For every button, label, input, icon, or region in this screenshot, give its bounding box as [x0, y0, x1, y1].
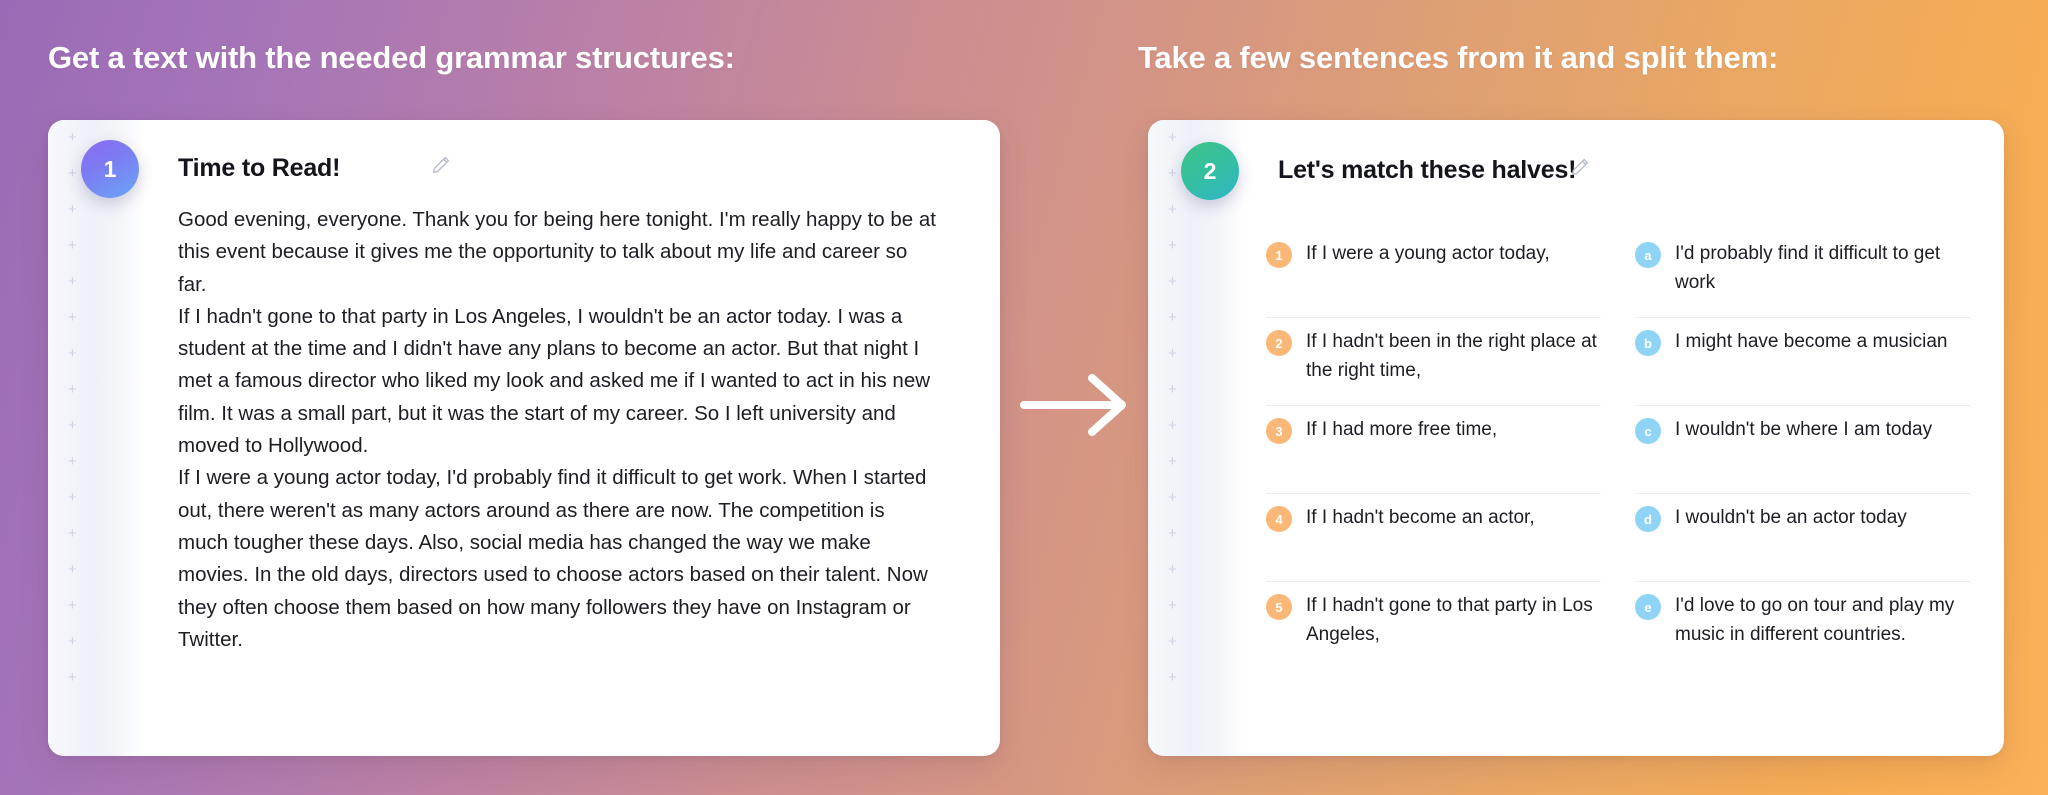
- spine-mark: +: [1168, 310, 1188, 325]
- spine-marks-right: + + + + + + + + + + + + + + + +: [1168, 130, 1188, 756]
- card-spine-right: + + + + + + + + + + + + + + + +: [1148, 120, 1244, 756]
- match-text: If I had more free time,: [1306, 415, 1497, 444]
- matching-columns: 1 If I were a young actor today, 2 If I …: [1266, 230, 1970, 670]
- match-label: 5: [1266, 594, 1292, 620]
- match-label: e: [1635, 594, 1661, 620]
- matching-left-column: 1 If I were a young actor today, 2 If I …: [1266, 230, 1601, 670]
- spine-mark: +: [68, 310, 88, 325]
- match-item[interactable]: a I'd probably find it difficult to get …: [1635, 230, 1970, 318]
- spine-mark: +: [68, 238, 88, 253]
- match-label: b: [1635, 330, 1661, 356]
- match-item[interactable]: c I wouldn't be where I am today: [1635, 406, 1970, 494]
- spine-mark: +: [1168, 562, 1188, 577]
- spine-mark: +: [68, 670, 88, 685]
- spine-mark: +: [68, 598, 88, 613]
- match-label: 1: [1266, 242, 1292, 268]
- spine-mark: +: [68, 382, 88, 397]
- match-label: 2: [1266, 330, 1292, 356]
- spine-mark: +: [68, 490, 88, 505]
- match-text: I might have become a musician: [1675, 327, 1947, 356]
- spine-mark: +: [68, 634, 88, 649]
- match-item[interactable]: d I wouldn't be an actor today: [1635, 494, 1970, 582]
- match-text: I'd love to go on tour and play my music…: [1675, 591, 1966, 649]
- spine-mark: +: [1168, 670, 1188, 685]
- spine-mark: +: [1168, 490, 1188, 505]
- matching-card: + + + + + + + + + + + + + + + + 2 Let's …: [1148, 120, 2004, 756]
- spine-mark: +: [1168, 130, 1188, 145]
- match-item[interactable]: 2 If I hadn't been in the right place at…: [1266, 318, 1601, 406]
- matching-right-column: a I'd probably find it difficult to get …: [1635, 230, 1970, 670]
- match-item[interactable]: 4 If I hadn't become an actor,: [1266, 494, 1601, 582]
- spine-mark: +: [68, 130, 88, 145]
- match-text: If I were a young actor today,: [1306, 239, 1550, 268]
- spine-mark: +: [1168, 634, 1188, 649]
- spine-mark: +: [68, 346, 88, 361]
- match-label: d: [1635, 506, 1661, 532]
- match-label: c: [1635, 418, 1661, 444]
- match-text: If I hadn't been in the right place at t…: [1306, 327, 1597, 385]
- spine-mark: +: [1168, 274, 1188, 289]
- spine-mark: +: [68, 562, 88, 577]
- spine-mark: +: [1168, 346, 1188, 361]
- matching-card-title: Let's match these halves!: [1278, 156, 1576, 185]
- match-text: I'd probably find it difficult to get wo…: [1675, 239, 1966, 297]
- match-item[interactable]: 1 If I were a young actor today,: [1266, 230, 1601, 318]
- reading-text: Good evening, everyone. Thank you for be…: [178, 204, 940, 656]
- match-text: I wouldn't be an actor today: [1675, 503, 1907, 532]
- reading-card: + + + + + + + + + + + + + + + +: [48, 120, 1000, 756]
- spine-mark: +: [1168, 238, 1188, 253]
- match-text: If I hadn't gone to that party in Los An…: [1306, 591, 1597, 649]
- match-item[interactable]: e I'd love to go on tour and play my mus…: [1635, 582, 1970, 670]
- match-text: If I hadn't become an actor,: [1306, 503, 1535, 532]
- left-panel: Get a text with the needed grammar struc…: [0, 0, 1000, 795]
- spine-marks-left: + + + + + + + + + + + + + + + +: [68, 130, 88, 756]
- spine-mark: +: [1168, 454, 1188, 469]
- step-badge-1: 1: [81, 140, 139, 198]
- spine-mark: +: [1168, 382, 1188, 397]
- spine-mark: +: [1168, 418, 1188, 433]
- pencil-icon[interactable]: [431, 155, 451, 175]
- reading-card-title: Time to Read!: [178, 154, 340, 183]
- right-section-heading: Take a few sentences from it and split t…: [1138, 40, 1778, 76]
- reading-paragraph: Good evening, everyone. Thank you for be…: [178, 204, 940, 301]
- spine-mark: +: [68, 526, 88, 541]
- spine-mark: +: [68, 418, 88, 433]
- card-spine-left: + + + + + + + + + + + + + + + +: [48, 120, 144, 756]
- match-label: 4: [1266, 506, 1292, 532]
- step-badge-2: 2: [1181, 142, 1239, 200]
- match-text: I wouldn't be where I am today: [1675, 415, 1932, 444]
- spine-mark: +: [68, 274, 88, 289]
- left-section-heading: Get a text with the needed grammar struc…: [48, 40, 735, 76]
- match-item[interactable]: b I might have become a musician: [1635, 318, 1970, 406]
- match-label: a: [1635, 242, 1661, 268]
- spine-mark: +: [68, 202, 88, 217]
- match-label: 3: [1266, 418, 1292, 444]
- match-item[interactable]: 5 If I hadn't gone to that party in Los …: [1266, 582, 1601, 670]
- reading-paragraph: If I were a young actor today, I'd proba…: [178, 462, 940, 656]
- match-item[interactable]: 3 If I had more free time,: [1266, 406, 1601, 494]
- spine-mark: +: [1168, 598, 1188, 613]
- spine-mark: +: [1168, 202, 1188, 217]
- spine-mark: +: [1168, 526, 1188, 541]
- pencil-icon[interactable]: [1570, 157, 1590, 177]
- spine-mark: +: [68, 454, 88, 469]
- reading-paragraph: If I hadn't gone to that party in Los An…: [178, 301, 940, 462]
- arrow-right-icon: [1010, 368, 1140, 442]
